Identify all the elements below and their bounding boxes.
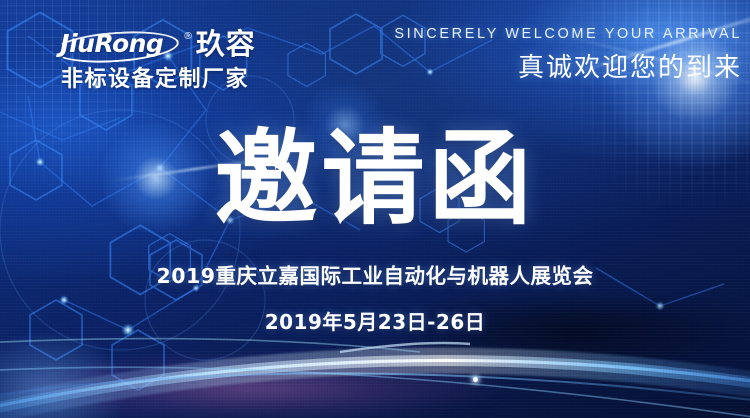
event-date: 2019年5月23日-26日 — [0, 306, 750, 335]
welcome-chinese: 真诚欢迎您的到来 — [394, 47, 742, 84]
event-subtitle: 2019重庆立嘉国际工业自动化与机器人展览会 — [0, 259, 750, 289]
logo-tagline: 非标设备定制厂家 — [50, 68, 260, 92]
logo-row: JiuRong ® 玖容 — [50, 24, 260, 64]
logo-wordmark: JiuRong — [54, 30, 179, 59]
welcome-block: SINCERELY WELCOME YOUR ARRIVAL 真诚欢迎您的到来 — [394, 26, 742, 84]
logo-brand-latin: JiuRong — [60, 29, 163, 58]
spark-dot-icon — [473, 377, 478, 382]
logo-brand-chinese: 玖容 — [196, 30, 256, 59]
welcome-english: SINCERELY WELCOME YOUR ARRIVAL — [394, 26, 742, 42]
company-logo[interactable]: JiuRong ® 玖容 非标设备定制厂家 — [50, 24, 260, 92]
invitation-banner: JiuRong ® 玖容 非标设备定制厂家 SINCERELY WELCOME … — [0, 0, 750, 418]
page-title: 邀请函 — [0, 128, 750, 231]
horizon-purple-haze — [0, 352, 560, 418]
registered-trademark-icon: ® — [184, 31, 191, 42]
